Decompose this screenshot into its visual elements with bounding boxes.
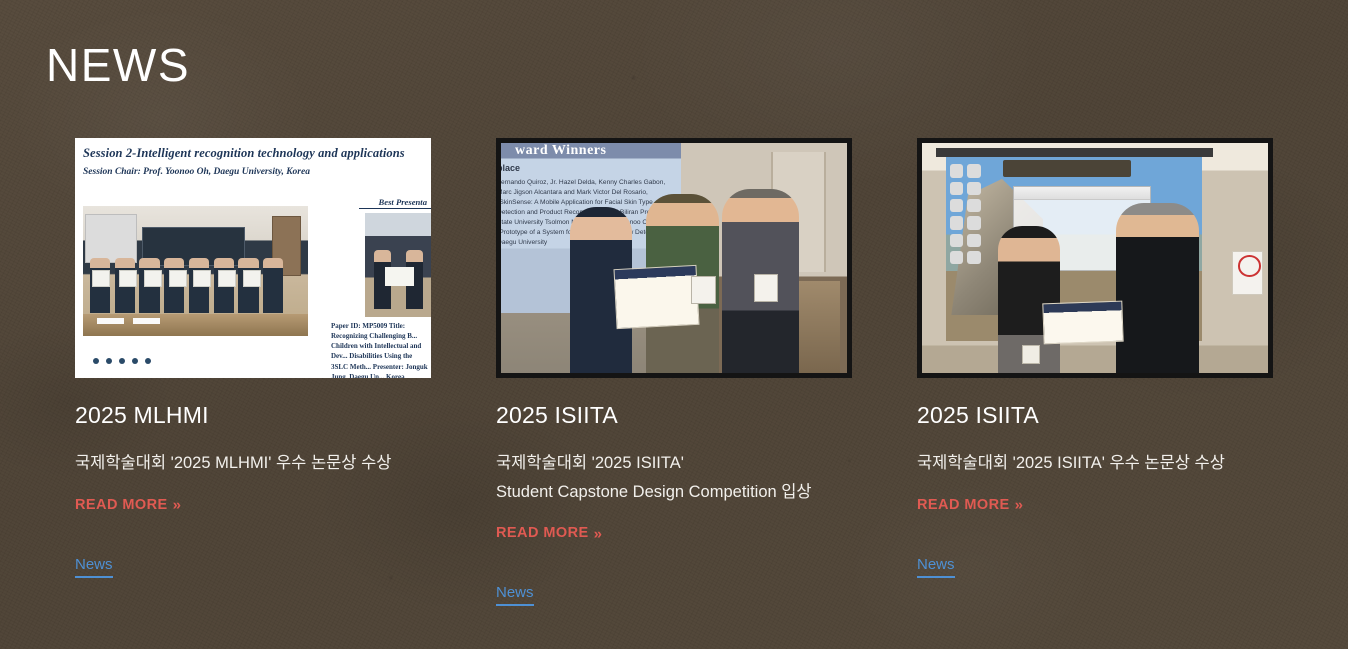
page-title: NEWS xyxy=(46,42,190,88)
projector-screen-frame xyxy=(936,148,1213,157)
slide-photo-person xyxy=(263,258,283,313)
news-card[interactable]: Session 2-Intelligent recognition techno… xyxy=(75,138,431,578)
slide-photo-certificate xyxy=(119,270,137,287)
slide-subheading-text: Session Chair: Prof. Yoonoo Oh, Daegu Un… xyxy=(75,167,431,177)
card-description: 국제학술대회 '2025 ISIITA' Student Capstone De… xyxy=(496,449,852,506)
card-media-slideshow[interactable]: Session 2-Intelligent recognition techno… xyxy=(75,138,431,378)
card-description: 국제학술대회 '2025 ISIITA' 우수 논문상 수상 xyxy=(917,449,1273,477)
news-card[interactable]: 2025 ISIITA 국제학술대회 '2025 ISIITA' 우수 논문상 … xyxy=(917,138,1273,578)
card-media-photo[interactable]: ward Winners place Fernando Quiroz, Jr. … xyxy=(496,138,852,378)
read-more-label: READ MORE xyxy=(917,497,1010,513)
slide-photo-paper xyxy=(97,318,124,325)
desktop-taskbar xyxy=(1003,160,1131,177)
no-smoking-sign xyxy=(1232,251,1263,295)
card-body: 2025 ISIITA 국제학술대회 '2025 ISIITA' 우수 논문상 … xyxy=(917,378,1273,578)
screen-place-label: place xyxy=(501,162,679,176)
desktop-icon xyxy=(967,251,980,264)
slide-group-photo xyxy=(83,206,308,336)
card-body: 2025 ISIITA 국제학술대회 '2025 ISIITA' Student… xyxy=(496,378,852,606)
certificate-award-photo xyxy=(917,138,1273,378)
desktop-icons xyxy=(950,164,981,326)
photo-frame-inner: ward Winners place Fernando Quiroz, Jr. … xyxy=(501,143,847,373)
news-section: NEWS Session 2-Intelligent recognition t… xyxy=(0,0,1348,649)
slide-photo-certificate xyxy=(193,270,211,287)
award-certificate xyxy=(1042,300,1123,344)
slide-photo-certificate xyxy=(218,270,236,287)
desktop-icon xyxy=(950,164,963,177)
desktop-icon xyxy=(950,234,963,247)
carousel-dot[interactable] xyxy=(145,358,151,364)
desktop-icon xyxy=(967,182,980,195)
slide-photo-paper xyxy=(133,318,160,325)
card-description-line: Student Capstone Design Competition 입상 xyxy=(496,478,852,506)
desktop-icon xyxy=(967,199,980,212)
double-chevron-right-icon: » xyxy=(1015,498,1021,513)
double-chevron-right-icon: » xyxy=(594,526,600,541)
name-badge xyxy=(1022,345,1039,363)
award-certificate xyxy=(614,265,700,329)
photo-frame-inner xyxy=(922,143,1268,373)
conference-slide-image: Session 2-Intelligent recognition techno… xyxy=(75,138,431,378)
read-more-link[interactable]: READ MORE » xyxy=(496,525,600,541)
desktop-icon xyxy=(950,216,963,229)
news-card[interactable]: ward Winners place Fernando Quiroz, Jr. … xyxy=(496,138,852,606)
slide-award-photo xyxy=(365,213,431,317)
card-title: 2025 ISIITA xyxy=(496,402,852,428)
carousel-dot[interactable] xyxy=(119,358,125,364)
person-right xyxy=(1116,203,1199,373)
card-title: 2025 MLHMI xyxy=(75,402,431,428)
desktop-icon xyxy=(950,182,963,195)
category-tag-news[interactable]: News xyxy=(75,556,113,578)
name-badge xyxy=(691,276,715,304)
slide-photo-certificate xyxy=(144,270,162,287)
card-media-photo[interactable] xyxy=(917,138,1273,378)
card-description-line: 국제학술대회 '2025 ISIITA' xyxy=(496,449,852,477)
desktop-icon xyxy=(950,199,963,212)
read-more-label: READ MORE xyxy=(75,497,168,513)
name-badge xyxy=(754,274,778,302)
read-more-link[interactable]: READ MORE » xyxy=(75,497,179,513)
carousel-dot[interactable] xyxy=(132,358,138,364)
carousel-dot[interactable] xyxy=(106,358,112,364)
carousel-dots[interactable] xyxy=(93,358,151,364)
slide-heading-text: Session 2-Intelligent recognition techno… xyxy=(75,146,431,162)
slide-photo-screen xyxy=(85,214,137,263)
slide-right-heading: Best Presenta xyxy=(379,197,427,207)
screen-heading-text: ward Winners xyxy=(501,143,681,158)
slide-photo-certificate xyxy=(243,270,261,287)
double-chevron-right-icon: » xyxy=(173,498,179,513)
read-more-label: READ MORE xyxy=(496,525,589,541)
desktop-icon xyxy=(950,251,963,264)
card-body: 2025 MLHMI 국제학술대회 '2025 MLHMI' 우수 논문상 수상… xyxy=(75,378,431,578)
desktop-icon xyxy=(967,216,980,229)
category-tag-news[interactable]: News xyxy=(496,584,534,606)
slide-award-certificate xyxy=(385,267,414,286)
award-winners-photo: ward Winners place Fernando Quiroz, Jr. … xyxy=(496,138,852,378)
slide-photo-certificate xyxy=(169,270,187,287)
window-titlebar xyxy=(1014,187,1150,200)
category-tag-news[interactable]: News xyxy=(917,556,955,578)
slide-photo-certificate xyxy=(92,270,110,287)
desktop-icon xyxy=(967,164,980,177)
card-description: 국제학술대회 '2025 MLHMI' 우수 논문상 수상 xyxy=(75,449,431,477)
card-title: 2025 ISIITA xyxy=(917,402,1273,428)
read-more-link[interactable]: READ MORE » xyxy=(917,497,1021,513)
slide-divider xyxy=(359,208,431,209)
carousel-dot[interactable] xyxy=(93,358,99,364)
desktop-icon xyxy=(967,234,980,247)
slide-caption-text: Paper ID: MP5009 Title: Recognizing Chal… xyxy=(331,321,431,378)
